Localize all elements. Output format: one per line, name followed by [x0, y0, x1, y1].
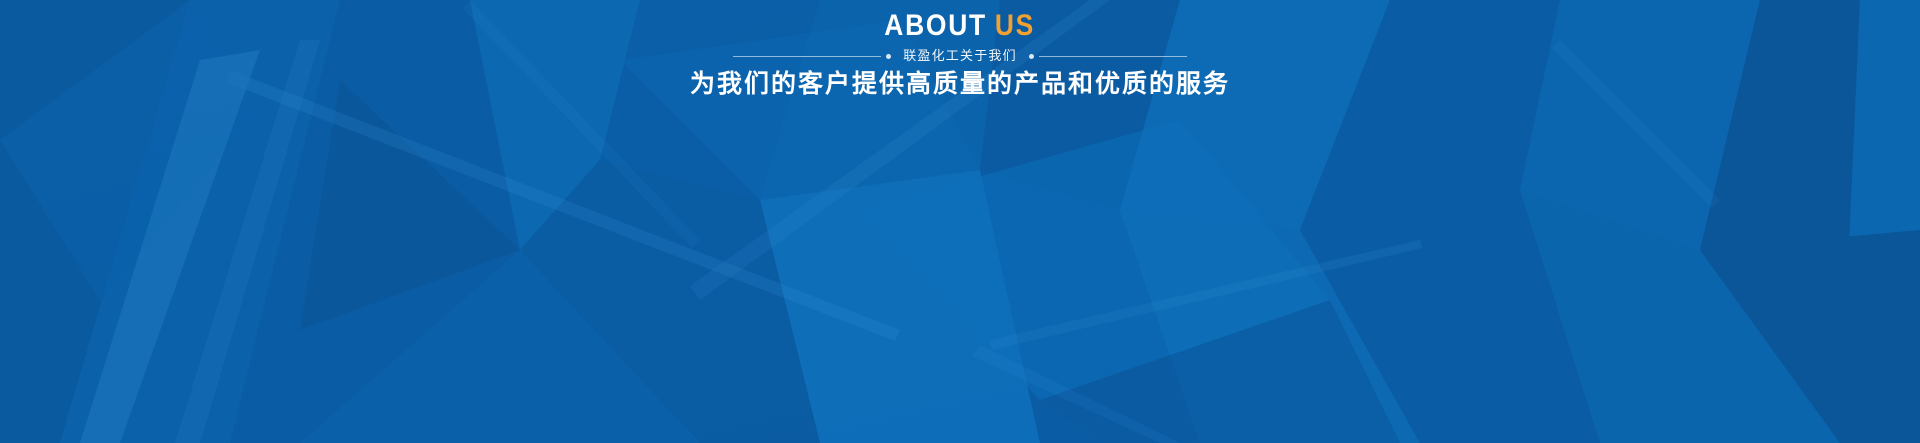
divider: 联盈化工关于我们 [0, 50, 1920, 63]
about-us-banner: ABOUTUS 联盈化工关于我们 为我们的客户提供高质量的产品和优质的服务 [0, 0, 1920, 443]
banner-subtitle: 联盈化工关于我们 [891, 50, 1029, 63]
banner-title-wrap: ABOUTUS [0, 11, 1920, 41]
page-title-accent: US [995, 9, 1035, 42]
divider-rule-left [733, 56, 881, 57]
page-title: ABOUTUS [885, 11, 1036, 41]
divider-rule-right [1039, 56, 1187, 57]
banner-headline: 为我们的客户提供高质量的产品和优质的服务 [0, 70, 1920, 99]
divider-dot-right-icon [1029, 54, 1034, 59]
banner-content: ABOUTUS 联盈化工关于我们 为我们的客户提供高质量的产品和优质的服务 [0, 0, 1920, 99]
page-title-primary: ABOUT [885, 9, 988, 42]
